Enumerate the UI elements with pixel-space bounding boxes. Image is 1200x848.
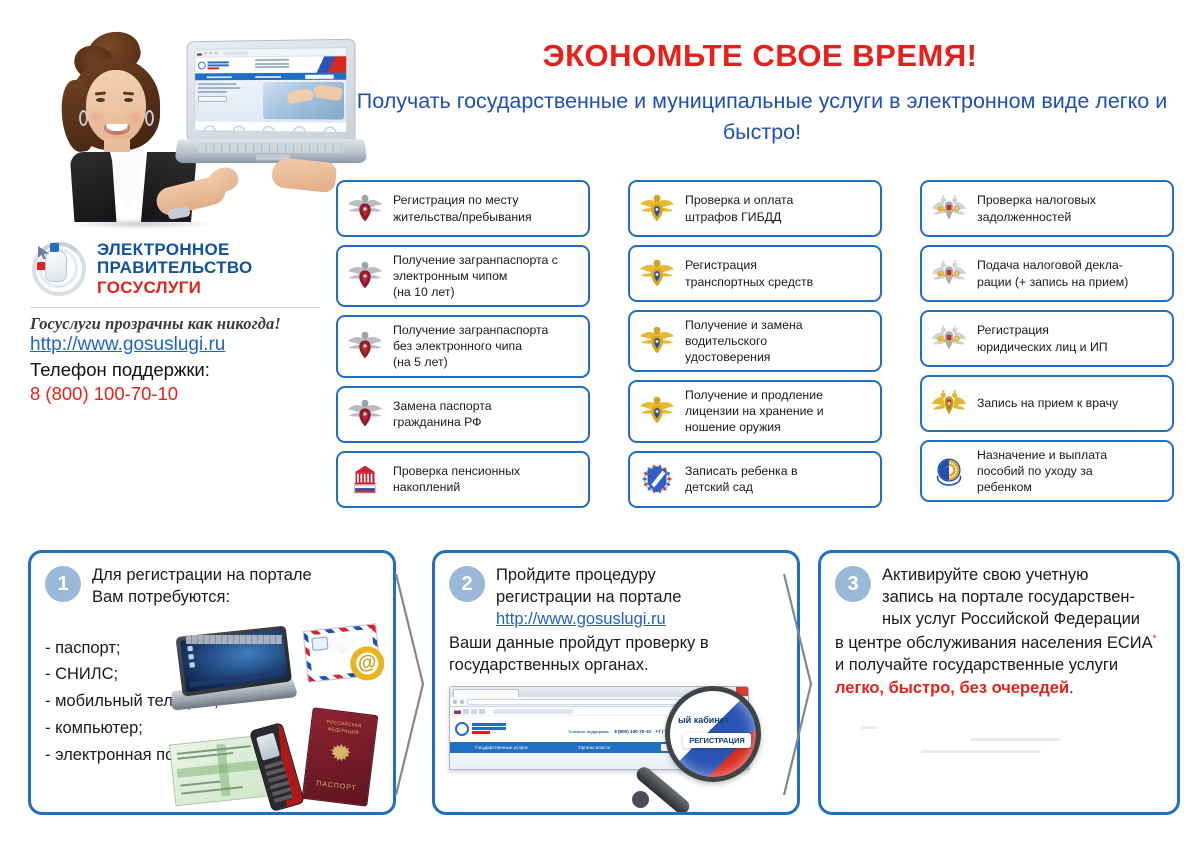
- service-card-line: детский сад: [685, 479, 797, 495]
- mvd-silver-eagle-icon: [344, 258, 386, 294]
- lang-chip: [471, 709, 477, 714]
- hero-button: [198, 96, 227, 102]
- registration-button[interactable]: РЕГИСТРАЦИЯ: [683, 733, 751, 748]
- laptop-keyboard: [198, 143, 344, 153]
- service-card-line: Проверка и оплата: [685, 192, 793, 208]
- service-card-line: Получение загранпаспорта с: [393, 252, 558, 268]
- brand-line-2: ПРАВИТЕЛЬСТВО: [97, 259, 253, 277]
- social-insurance-fund-icon: [928, 453, 970, 489]
- service-card-line: задолженностей: [977, 209, 1096, 225]
- eye-right: [124, 98, 133, 102]
- passport-bottom-text: ПАСПОРТ: [304, 779, 368, 794]
- portal-hero: [195, 80, 346, 123]
- passport-icon: РОССИЙСКАЯ ФЕДЕРАЦИЯ ПАСПОРТ: [302, 707, 379, 806]
- service-card-line: Назначение и выплата: [977, 447, 1107, 463]
- service-card[interactable]: Регистрацияюридических лиц и ИП: [920, 310, 1174, 367]
- step-panel-1: 1 Для регистрации на портале Вам потребу…: [28, 550, 396, 815]
- service-card[interactable]: Назначение и выплатапособий по уходу зар…: [920, 440, 1174, 502]
- service-card-line: Регистрация: [977, 322, 1108, 338]
- mvd-silver-eagle-icon: [344, 396, 386, 432]
- service-card-line: Проверка пенсионных: [393, 463, 520, 479]
- brand-tagline: Госуслуги прозрачны как никогда!: [30, 314, 330, 334]
- service-card-line: Подача налоговой декла-: [977, 257, 1128, 273]
- gosuslugi-logo-icon: [30, 240, 88, 298]
- service-card-label: Регистрацияюридических лиц и ИП: [977, 322, 1108, 354]
- brand-divider: [30, 307, 320, 308]
- support-label: Телефон поддержки:: [568, 729, 610, 734]
- step-title-3: Активируйте свою учетную запись на порта…: [882, 565, 1140, 630]
- service-card[interactable]: Проверка налоговыхзадолженностей: [920, 180, 1174, 237]
- service-card-line: Получение загранпаспорта: [393, 322, 548, 338]
- personal-cabinet-label: ый кабинет: [678, 715, 729, 725]
- service-tile: [256, 125, 282, 133]
- step-body-line: государственных органах.: [449, 654, 783, 676]
- portal-logo-text: [208, 61, 229, 70]
- tax-service-eagle-icon: [927, 255, 971, 293]
- service-card[interactable]: Проверка и оплаташтрафов ГИБДД: [628, 180, 882, 237]
- service-card-line: (на 10 лет): [393, 284, 558, 300]
- nav-item-services: Государственные услуги: [475, 745, 527, 750]
- step-title-line: регистрации на портале: [496, 587, 681, 609]
- tax-service-eagle-icon: [928, 191, 970, 227]
- step-2-portal-link[interactable]: http://www.gosuslugi.ru: [496, 610, 666, 628]
- service-card-line: водительского: [685, 333, 803, 349]
- service-card-line: накоплений: [393, 479, 520, 495]
- step-title-line: запись на портале государствен-: [882, 587, 1140, 609]
- hero-photo: [28, 12, 338, 217]
- service-column-2: Проверка и оплаташтрафов ГИБДДРегистраци…: [628, 180, 882, 508]
- mvd-silver-eagle-icon: [344, 328, 386, 364]
- cheek-right: [128, 112, 141, 121]
- step-title-line: Для регистрации на портале: [92, 565, 312, 587]
- service-card[interactable]: Получение загранпаспорта сэлектронным чи…: [336, 245, 590, 307]
- pension-fund-icon: [344, 461, 386, 497]
- service-card-line: Замена паспорта: [393, 398, 492, 414]
- mvd-silver-eagle-icon: [343, 257, 387, 295]
- coat-of-arms-icon: [327, 741, 354, 770]
- photo-shadow: [66, 218, 216, 230]
- service-card-line: Получение и замена: [685, 317, 803, 333]
- step-2-body: Ваши данные пройдут проверку в государст…: [449, 632, 783, 676]
- service-card-label: Регистрация по местужительства/пребывани…: [393, 192, 532, 224]
- page-subheadline: Получать государственные и муниципальные…: [338, 86, 1186, 147]
- magnifier-lens: ый кабинет РЕГИСТРАЦИЯ: [665, 686, 761, 782]
- lang-chip: [214, 51, 218, 54]
- steps-section: 1 Для регистрации на портале Вам потребу…: [28, 550, 1180, 818]
- portal-search: [305, 74, 334, 78]
- location-selector: [493, 709, 573, 714]
- laptop-lid: [187, 39, 356, 145]
- mvd-gold-eagle-icon: [636, 393, 678, 429]
- forward-icon: [460, 700, 464, 704]
- lang-chip: [203, 51, 207, 54]
- earring-left: [79, 110, 88, 126]
- flag-icon: [197, 51, 202, 55]
- service-card-line: Проверка налоговых: [977, 192, 1096, 208]
- service-card[interactable]: Проверка пенсионныхнакоплений: [336, 451, 590, 508]
- service-card-label: Получение загранпаспорта сэлектронным чи…: [393, 252, 558, 300]
- service-card-line: Получение и продление: [685, 387, 824, 403]
- service-tile: [286, 126, 312, 133]
- step-1-imagery: @ РОССИЙСКАЯ ФЕДЕРАЦИЯ ПАСПОРТ: [172, 627, 387, 805]
- service-card-label: Получение и заменаводительскогоудостовер…: [685, 317, 803, 365]
- laptop-photo-icon: [172, 631, 297, 705]
- tax-service-eagle-icon: [927, 320, 971, 358]
- mvd-gold-eagle-icon: [636, 191, 678, 227]
- lang-chip: [463, 709, 469, 714]
- portal-logo-text: [472, 723, 506, 735]
- service-card-line: Записать ребенка в: [685, 463, 797, 479]
- service-card-label: Проверка пенсионныхнакоплений: [393, 463, 520, 495]
- service-card-label: Назначение и выплатапособий по уходу зар…: [977, 447, 1107, 495]
- step-3-text-before: в центре обслуживания населения ЕСИА: [835, 634, 1153, 652]
- step-title-line: ных услуг Российской Федерации: [882, 609, 1140, 631]
- mvd-silver-eagle-icon: [344, 191, 386, 227]
- step-3-watermark: [861, 726, 1141, 796]
- mvd-silver-eagle-icon: [343, 395, 387, 433]
- service-card-label: Записать ребенка вдетский сад: [685, 463, 797, 495]
- step-body-line: Ваши данные пройдут проверку в: [449, 632, 783, 654]
- step-3-body: в центре обслуживания населения ЕСИА* и …: [835, 632, 1163, 698]
- vest-left: [70, 152, 117, 222]
- support-phone-number: 8 (800) 100-70-10: [30, 383, 330, 405]
- step-title-line: Вам потребуются:: [92, 587, 312, 609]
- mvd-gold-eagle-icon: [635, 392, 679, 430]
- hand-left-holding: [271, 157, 338, 194]
- portal-url-link[interactable]: http://www.gosuslugi.ru: [30, 334, 225, 355]
- portal-phone: [255, 59, 289, 70]
- passport-top-text: РОССИЙСКАЯ ФЕДЕРАЦИЯ: [311, 717, 376, 738]
- social-insurance-fund-icon: [927, 452, 971, 490]
- service-card[interactable]: Регистрациятранспортных средств: [628, 245, 882, 302]
- service-card-grid: Регистрация по местужительства/пребывани…: [336, 180, 1176, 508]
- footnote-asterisk: *: [1153, 634, 1157, 645]
- pension-fund-icon: [343, 460, 387, 498]
- service-card-label: Регистрациятранспортных средств: [685, 257, 813, 289]
- service-tile: [226, 125, 251, 133]
- magnifier-icon: ый кабинет РЕГИСТРАЦИЯ: [631, 686, 781, 804]
- mvd-gold-eagle-icon: [636, 323, 678, 359]
- service-card-line: гражданина РФ: [393, 414, 492, 430]
- health-ministry-eagle-icon: [927, 385, 971, 423]
- back-icon: [453, 700, 457, 704]
- health-ministry-eagle-icon: [928, 386, 970, 422]
- step-2-imagery: Телефон поддержки: 8 (800) 100-70-10 +7 …: [449, 686, 781, 804]
- hero-hand-phone: [286, 88, 314, 104]
- tax-service-eagle-icon: [928, 256, 970, 292]
- step-title-2: Пройдите процедуру регистрации на портал…: [496, 565, 681, 630]
- service-card-line: Регистрация по месту: [393, 192, 532, 208]
- service-card-label: Проверка и оплаташтрафов ГИБДД: [685, 192, 793, 224]
- service-card-line: электронным чипом: [393, 268, 558, 284]
- service-card-line: Регистрация: [685, 257, 813, 273]
- eye-left: [96, 98, 105, 102]
- service-card-line: штрафов ГИБДД: [685, 209, 793, 225]
- mvd-silver-eagle-icon: [343, 327, 387, 365]
- mvd-gold-eagle-icon: [636, 256, 678, 292]
- service-column-3: Проверка налоговыхзадолженностейПодача н…: [920, 180, 1174, 508]
- service-card-line: удостоверения: [685, 349, 803, 365]
- portal-header: [195, 56, 346, 73]
- service-card-label: Получение и продлениелицензии на хранени…: [685, 387, 824, 435]
- tax-service-eagle-icon: [928, 321, 970, 357]
- gosuslugi-logo-icon: [455, 722, 469, 736]
- service-card-line: ребенком: [977, 479, 1107, 495]
- service-column-1: Регистрация по местужительства/пребывани…: [336, 180, 590, 508]
- service-card-label: Подача налоговой декла-рации (+ запись н…: [977, 257, 1128, 289]
- service-card-line: лицензии на хранение и: [685, 403, 824, 419]
- step-title-1: Для регистрации на портале Вам потребуют…: [92, 565, 312, 609]
- brand-line-1: ЭЛЕКТРОННОЕ: [97, 241, 253, 259]
- service-card-line: жительства/пребывания: [393, 209, 532, 225]
- lang-chip: [479, 709, 485, 714]
- envelope-email-icon: @: [302, 623, 381, 682]
- service-card[interactable]: Подача налоговой декла-рации (+ запись н…: [920, 245, 1174, 302]
- step-number-2: 2: [449, 566, 485, 602]
- portal-service-tiles: [195, 121, 346, 133]
- cheek-left: [90, 112, 103, 121]
- laptop-screen: [194, 47, 347, 133]
- lang-chip: [209, 51, 213, 54]
- service-card-line: ношение оружия: [685, 419, 824, 435]
- education-shield-icon: [636, 461, 678, 497]
- portal-logo-icon: [198, 62, 206, 70]
- service-card-line: транспортных средств: [685, 274, 813, 290]
- step-3-highlight: легко, быстро, без очередей: [835, 679, 1069, 697]
- earring-right: [145, 110, 154, 126]
- education-shield-icon: [635, 460, 679, 498]
- step-3-text-end: .: [1069, 679, 1074, 697]
- service-card-line: Запись на прием к врачу: [977, 395, 1118, 411]
- step-number-1: 1: [45, 566, 81, 602]
- service-card-label: Замена паспортагражданина РФ: [393, 398, 492, 430]
- brand-line-3: ГОСУСЛУГИ: [97, 278, 253, 298]
- page-headline: ЭКОНОМЬТЕ СВОЕ ВРЕМЯ!: [340, 38, 1180, 74]
- service-card[interactable]: Получение и заменаводительскогоудостовер…: [628, 310, 882, 372]
- service-card-line: (на 5 лет): [393, 354, 548, 370]
- step-number-3: 3: [835, 566, 871, 602]
- mvd-gold-eagle-icon: [635, 190, 679, 228]
- location-pill: [223, 51, 248, 55]
- service-card-label: Запись на прием к врачу: [977, 395, 1118, 411]
- service-tile: [197, 125, 222, 133]
- flag-icon: [454, 709, 461, 714]
- service-card-label: Проверка налоговыхзадолженностей: [977, 192, 1096, 224]
- brand-block: ЭЛЕКТРОННОЕ ПРАВИТЕЛЬСТВО ГОСУСЛУГИ Госу…: [30, 240, 330, 405]
- service-card-line: без электронного чипа: [393, 338, 548, 354]
- service-card[interactable]: Регистрация по местужительства/пребывани…: [336, 180, 590, 237]
- step-panel-2: 2 Пройдите процедуру регистрации на порт…: [432, 550, 800, 815]
- service-card-line: пособий по уходу за: [977, 463, 1107, 479]
- step-arrow-1-to-2: [393, 572, 427, 797]
- step-arrow-2-to-3: [781, 572, 815, 797]
- tax-service-eagle-icon: [927, 190, 971, 228]
- browser-tab: [453, 689, 519, 697]
- service-card[interactable]: Запись на прием к врачу: [920, 375, 1174, 432]
- mvd-silver-eagle-icon: [343, 190, 387, 228]
- service-card-line: рации (+ запись на прием): [977, 274, 1128, 290]
- service-card[interactable]: Записать ребенка вдетский сад: [628, 451, 882, 508]
- hero-image: [263, 82, 344, 120]
- service-card-line: юридических лиц и ИП: [977, 339, 1108, 355]
- service-card[interactable]: Замена паспортагражданина РФ: [336, 386, 590, 443]
- nav-item-authorities: Органы власти: [578, 745, 610, 750]
- step-title-line: Активируйте свою учетную: [882, 565, 1140, 587]
- step-panel-3: 3 Активируйте свою учетную запись на пор…: [818, 550, 1180, 815]
- mvd-gold-eagle-icon: [635, 255, 679, 293]
- step-3-text-middle: и получайте государственные услуги: [835, 656, 1118, 674]
- magnifier-handle-tip: [632, 791, 649, 808]
- service-card[interactable]: Получение и продлениелицензии на хранени…: [628, 380, 882, 442]
- support-phone-label: Телефон поддержки:: [30, 359, 330, 381]
- service-card-label: Получение загранпаспортабез электронного…: [393, 322, 548, 370]
- service-card[interactable]: Получение загранпаспортабез электронного…: [336, 315, 590, 377]
- mvd-gold-eagle-icon: [635, 322, 679, 360]
- step-title-line: Пройдите процедуру: [496, 565, 681, 587]
